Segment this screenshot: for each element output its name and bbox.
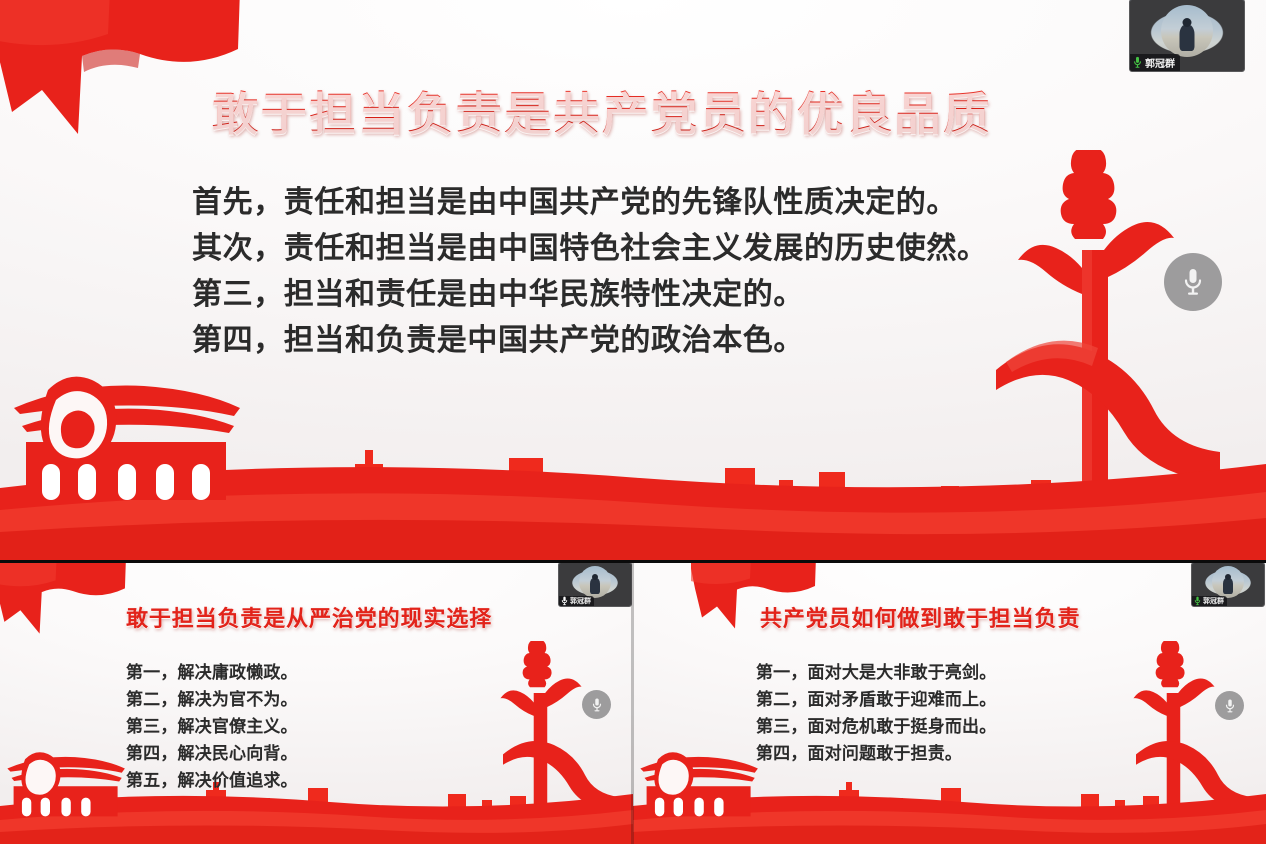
participant-tile[interactable]: 郭冠群 [558, 563, 632, 607]
avatar-head [592, 574, 598, 580]
participant-name: 郭冠群 [1145, 55, 1175, 70]
tiananmen-gate-icon [633, 743, 761, 817]
microphone-toggle-button[interactable] [1215, 691, 1244, 720]
avatar-head [1225, 574, 1231, 580]
slide-line: 第三，担当和责任是由中华民族特性决定的。 [192, 272, 988, 318]
city-skyline-silhouette-icon [0, 360, 1266, 560]
slide-line: 第四，面对问题敢于担责。 [756, 741, 996, 768]
participant-tile[interactable]: 郭冠群 [1191, 563, 1265, 607]
slide-title-bottom-right: 共产党员如何做到敢于担当负责 [760, 601, 1080, 633]
huabiao-ornamental-column-icon [996, 150, 1196, 550]
avatar-body [1223, 578, 1233, 594]
microphone-icon [1194, 596, 1201, 606]
slide-body-bottom-right: 第一，面对大是大非敢于亮剑。 第二，面对矛盾敢于迎难而上。 第三，面对危机敢于挺… [756, 660, 996, 768]
avatar [1161, 5, 1213, 57]
participant-nameplate: 郭冠群 [1192, 596, 1227, 606]
slide-line: 首先，责任和担当是由中国共产党的先锋队性质决定的。 [192, 180, 988, 226]
screen-share-view: 敢于担当负责是共产党员的优良品质 首先，责任和担当是由中国共产党的先锋队性质决定… [0, 0, 1266, 844]
huabiao-ornamental-column-icon [489, 641, 593, 844]
avatar [579, 566, 611, 598]
microphone-icon [1133, 56, 1142, 69]
microphone-icon [561, 596, 568, 606]
red-ribbon-icon [996, 330, 1246, 520]
stone-lion-icon [21, 752, 60, 798]
participant-name: 郭冠群 [570, 596, 591, 606]
slide-line: 第一，解决庸政懒政。 [126, 660, 298, 687]
participant-name: 郭冠群 [1203, 596, 1224, 606]
red-flag-banner-icon [0, 563, 132, 639]
microphone-icon [591, 697, 603, 713]
slide-line: 第二，面对矛盾敢于迎难而上。 [756, 687, 996, 714]
microphone-icon [1224, 698, 1236, 714]
tiananmen-gate-icon [0, 360, 246, 500]
stone-lion-icon [41, 377, 116, 465]
microphone-toggle-button[interactable] [582, 690, 611, 719]
slide-line: 第一，面对大是大非敢于亮剑。 [756, 660, 996, 687]
slide-line: 第三，解决官僚主义。 [126, 714, 298, 741]
slide-line: 第四，解决民心向背。 [126, 741, 298, 768]
slide-panel-bottom-left: 敢于担当负责是从严治党的现实选择 第一，解决庸政懒政。 第二，解决为官不为。 第… [0, 563, 633, 844]
slide-title-main: 敢于担当负责是共产党员的优良品质 [212, 78, 992, 144]
slide-body-bottom-left: 第一，解决庸政懒政。 第二，解决为官不为。 第三，解决官僚主义。 第四，解决民心… [126, 660, 298, 795]
slide-title-bottom-left: 敢于担当负责是从严治党的现实选择 [126, 601, 492, 633]
microphone-icon [1181, 267, 1205, 297]
avatar-head [1183, 18, 1192, 27]
slide-line: 第三，面对危机敢于挺身而出。 [756, 714, 996, 741]
slide-panel-main: 敢于担当负责是共产党员的优良品质 首先，责任和担当是由中国共产党的先锋队性质决定… [0, 0, 1266, 560]
panel-divider-vertical [631, 563, 634, 844]
slide-panel-bottom-right: 共产党员如何做到敢于担当负责 第一，面对大是大非敢于亮剑。 第二，面对矛盾敢于迎… [633, 563, 1266, 844]
participant-nameplate: 郭冠群 [1130, 54, 1180, 71]
avatar-body [590, 578, 600, 594]
slide-line: 第五，解决价值追求。 [126, 768, 298, 795]
stone-lion-icon [654, 752, 693, 798]
red-ribbon-icon [503, 733, 633, 833]
avatar-body [1180, 25, 1195, 51]
slide-line: 第四，担当和负责是中国共产党的政治本色。 [192, 318, 988, 364]
participant-nameplate: 郭冠群 [559, 596, 594, 606]
red-ribbon-icon [1136, 733, 1266, 833]
microphone-toggle-button[interactable] [1164, 253, 1222, 311]
tiananmen-gate-icon [0, 743, 128, 817]
participant-tile[interactable]: 郭冠群 [1129, 0, 1245, 72]
slide-line: 第二，解决为官不为。 [126, 687, 298, 714]
avatar [1212, 566, 1244, 598]
huabiao-ornamental-column-icon [1122, 641, 1226, 844]
slide-line: 其次，责任和担当是由中国特色社会主义发展的历史使然。 [192, 226, 988, 272]
slide-body-main: 首先，责任和担当是由中国共产党的先锋队性质决定的。 其次，责任和担当是由中国特色… [192, 180, 988, 364]
city-skyline-silhouette-icon [0, 744, 633, 844]
